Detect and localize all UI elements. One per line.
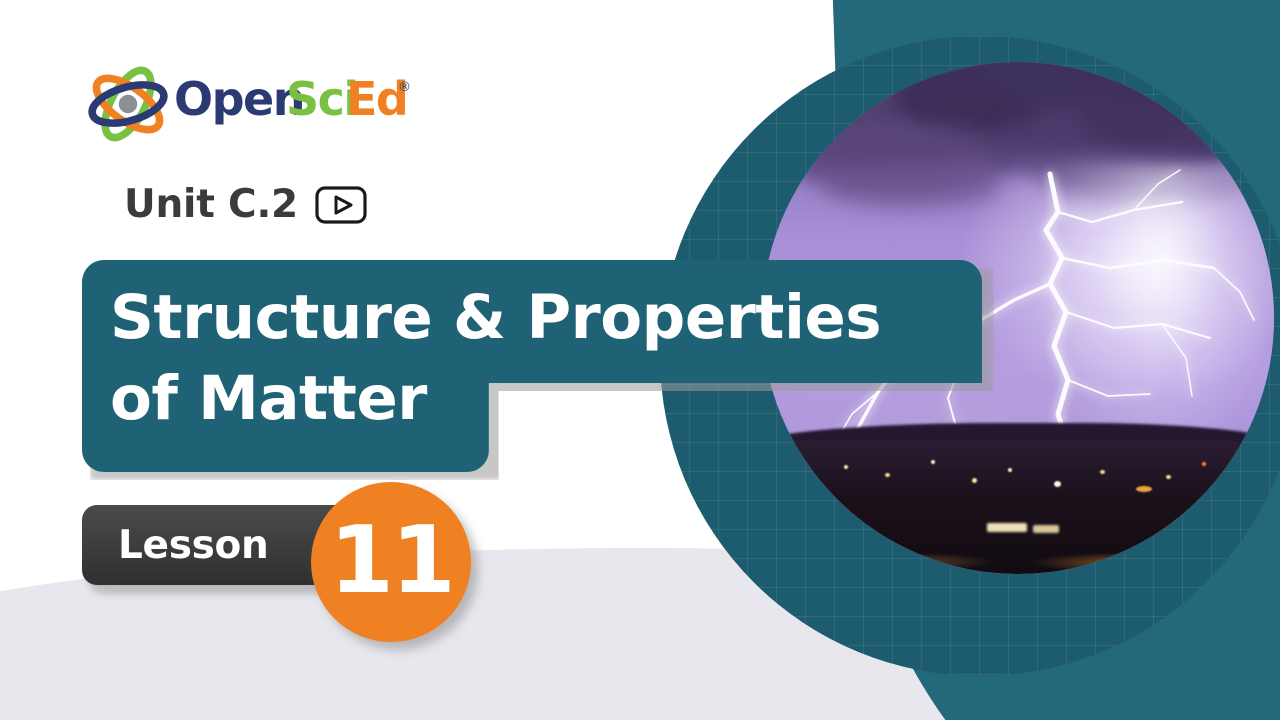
city-light [1100, 470, 1105, 474]
title-banner-row-2 [82, 360, 489, 472]
city-silhouette [762, 441, 1274, 574]
opensciEd-wordmark: Open Sci Ed ® [174, 71, 410, 129]
svg-text:Open: Open [174, 72, 304, 126]
lesson-label: Lesson [118, 523, 269, 568]
lesson-number-badge: 11 [311, 482, 471, 642]
atom-icon [86, 62, 170, 146]
city-light [987, 523, 1027, 532]
city-light [885, 473, 890, 477]
city-light [1202, 462, 1206, 466]
city-warm-glow [762, 553, 1274, 569]
city-light [972, 478, 977, 483]
city-light [1136, 486, 1152, 492]
opensciEd-logo[interactable]: Open Sci Ed ® [86, 58, 406, 150]
slide-canvas: Open Sci Ed ® Unit C.2 Structure & Prope… [0, 0, 1280, 720]
unit-label: Unit C.2 [124, 182, 298, 227]
city-light [1166, 475, 1171, 479]
city-light [813, 486, 817, 490]
city-light [844, 465, 848, 469]
unit-row: Unit C.2 [124, 182, 368, 227]
svg-text:®: ® [398, 80, 410, 95]
video-play-icon[interactable] [314, 185, 368, 225]
city-light [1033, 525, 1059, 533]
city-light [931, 460, 935, 464]
city-light [1008, 468, 1012, 472]
lesson-number: 11 [329, 514, 452, 607]
city-light [1054, 481, 1061, 487]
